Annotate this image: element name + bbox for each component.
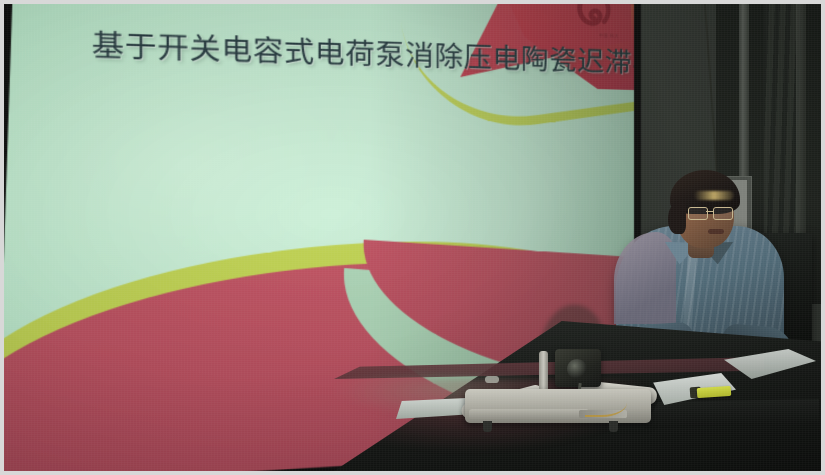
photograph: 中国 科大 AND TECHNOLOGY OF CHINA 基于开关电容式电荷泵… [0, 0, 825, 475]
glasses-lens-left [688, 207, 708, 220]
photo-content: 中国 科大 AND TECHNOLOGY OF CHINA 基于开关电容式电荷泵… [4, 4, 821, 471]
glasses-icon [688, 207, 734, 218]
document-camera-foot-right [609, 421, 618, 432]
logo-caption: 中国 科大 [599, 33, 619, 40]
presenter-hair-side [668, 202, 686, 234]
document-camera-foot-left [483, 421, 492, 432]
glasses-lens-right [713, 207, 733, 220]
document-camera-indicator [485, 376, 499, 383]
document-camera-base-front [469, 409, 589, 419]
camera-lens-icon [567, 359, 587, 379]
presenter-mouth [708, 229, 724, 234]
document-camera-head [555, 349, 601, 387]
face-light-stripe [694, 191, 734, 200]
glasses-bridge [706, 211, 713, 212]
shirt-lit-side [614, 232, 676, 324]
document-camera[interactable] [459, 328, 659, 423]
